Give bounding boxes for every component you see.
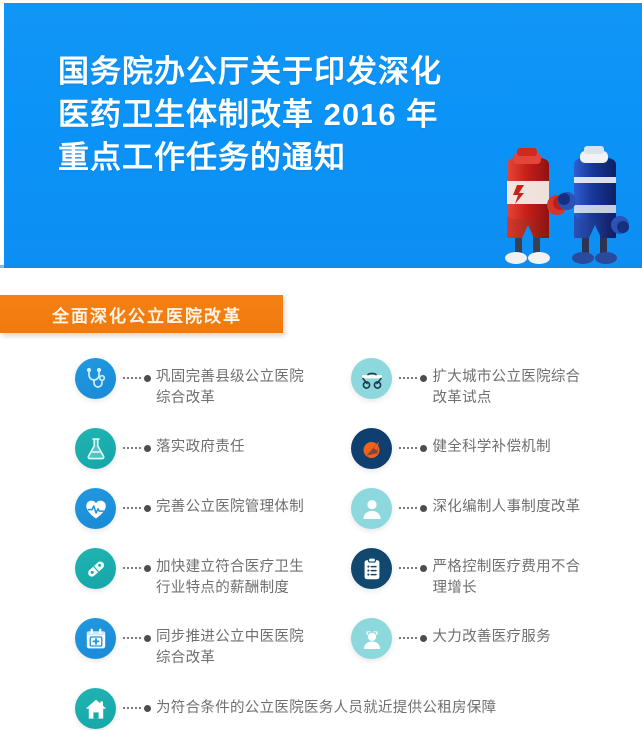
connector — [399, 548, 427, 589]
list-item-label: 扩大城市公立医院综合 改革试点 — [432, 358, 580, 409]
nurse-icon — [351, 618, 392, 659]
connector — [123, 548, 151, 589]
list-item-line: 落实政府责任 — [156, 437, 245, 458]
bullet-dot — [420, 375, 427, 382]
list-item-line: 加快建立符合医疗卫生 — [156, 557, 304, 578]
list-item[interactable]: 巩固完善县级公立医院 综合改革 — [0, 358, 336, 409]
dotted-line — [399, 567, 417, 571]
list-item[interactable]: 严格控制医疗费用不合 理增长 — [336, 548, 642, 599]
hospital-gurney-icon — [351, 358, 392, 399]
connector — [399, 618, 427, 659]
infographic-page: 国务院办公厅关于印发深化 医药卫生体制改革 2016 年 重点工作任务的通知 — [0, 0, 642, 730]
item-row: 落实政府责任 健全科学补偿机制 — [0, 428, 642, 469]
connector — [123, 428, 151, 469]
header-top-edge — [0, 0, 642, 3]
boxing-bottles-icon — [487, 143, 642, 268]
item-row: 为符合条件的公立医院医务人员就近提供公租房保障 — [0, 688, 642, 729]
list-item[interactable]: 同步推进公立中医医院 综合改革 — [0, 618, 336, 669]
row-spacer — [0, 669, 642, 688]
header-bottom-rule — [0, 265, 642, 268]
list-item-line: 巩固完善县级公立医院 — [156, 367, 304, 388]
row-spacer — [0, 469, 642, 488]
connector — [123, 688, 151, 729]
title-line-3: 重点工作任务的通知 — [58, 136, 498, 179]
bullet-dot — [144, 635, 151, 642]
list-item[interactable]: 落实政府责任 — [0, 428, 336, 469]
list-item-label: 严格控制医疗费用不合 理增长 — [432, 548, 580, 599]
list-item-line: 综合改革 — [156, 388, 304, 409]
header-left-edge — [0, 0, 4, 268]
item-row: 巩固完善县级公立医院 综合改革 — [0, 358, 642, 409]
calendar-plus-icon — [75, 618, 116, 659]
section-banner-label: 全面深化公立医院改革 — [52, 302, 242, 327]
dotted-line — [399, 377, 417, 381]
list-item[interactable]: 扩大城市公立医院综合 改革试点 — [336, 358, 642, 409]
bullet-dot — [420, 505, 427, 512]
list-item-line: 综合改革 — [156, 648, 304, 669]
list-item[interactable]: 大力改善医疗服务 — [336, 618, 642, 669]
list-item-line: 健全科学补偿机制 — [432, 437, 550, 458]
list-item-line: 扩大城市公立医院综合 — [432, 367, 580, 388]
row-spacer — [0, 599, 642, 618]
bullet-dot — [144, 375, 151, 382]
items-grid: 巩固完善县级公立医院 综合改革 — [0, 358, 642, 729]
title-line-1: 国务院办公厅关于印发深化 — [58, 50, 498, 93]
list-item-label: 同步推进公立中医医院 综合改革 — [156, 618, 304, 669]
item-row: 加快建立符合医疗卫生 行业特点的薪酬制度 — [0, 548, 642, 599]
connector — [399, 358, 427, 399]
row-spacer — [0, 409, 642, 428]
heart-pulse-icon — [75, 488, 116, 529]
dotted-line — [399, 507, 417, 511]
item-row: 同步推进公立中医医院 综合改革 — [0, 618, 642, 669]
bullet-dot — [420, 565, 427, 572]
connector — [399, 428, 427, 469]
compass-icon — [351, 428, 392, 469]
list-item-label: 大力改善医疗服务 — [432, 618, 550, 648]
bullet-dot — [144, 505, 151, 512]
list-item-label: 加快建立符合医疗卫生 行业特点的薪酬制度 — [156, 548, 304, 599]
dotted-line — [123, 567, 141, 571]
dotted-line — [123, 447, 141, 451]
list-item[interactable]: 加快建立符合医疗卫生 行业特点的薪酬制度 — [0, 548, 336, 599]
list-item[interactable]: 深化编制人事制度改革 — [336, 488, 642, 529]
list-item-line: 同步推进公立中医医院 — [156, 627, 304, 648]
dotted-line — [123, 507, 141, 511]
list-item[interactable]: 完善公立医院管理体制 — [0, 488, 336, 529]
bullet-dot — [420, 445, 427, 452]
list-item-label: 为符合条件的公立医院医务人员就近提供公租房保障 — [156, 698, 496, 719]
dotted-line — [399, 637, 417, 641]
list-item-line: 改革试点 — [432, 388, 580, 409]
connector — [123, 618, 151, 659]
stethoscope-icon — [75, 358, 116, 399]
bullet-dot — [144, 445, 151, 452]
list-item[interactable]: 健全科学补偿机制 — [336, 428, 642, 469]
mascot-illustration — [487, 143, 642, 268]
list-item-label: 落实政府责任 — [156, 428, 245, 458]
page-title: 国务院办公厅关于印发深化 医药卫生体制改革 2016 年 重点工作任务的通知 — [58, 50, 498, 179]
list-item-line: 完善公立医院管理体制 — [156, 497, 304, 518]
connector — [123, 358, 151, 399]
bullet-dot — [144, 705, 151, 712]
item-row: 完善公立医院管理体制 深化编制人事制度改革 — [0, 488, 642, 529]
header-banner: 国务院办公厅关于印发深化 医药卫生体制改革 2016 年 重点工作任务的通知 — [0, 0, 642, 268]
list-item-line: 行业特点的薪酬制度 — [156, 578, 304, 599]
list-item-line: 严格控制医疗费用不合 — [432, 557, 580, 578]
connector — [399, 488, 427, 529]
list-item-line: 深化编制人事制度改革 — [432, 497, 580, 518]
blue-mascot — [558, 146, 629, 264]
section-banner: 全面深化公立医院改革 — [0, 295, 283, 333]
capsule-pills-icon — [75, 548, 116, 589]
list-item-line: 理增长 — [432, 578, 580, 599]
red-mascot — [505, 148, 567, 264]
lab-flask-icon — [75, 428, 116, 469]
person-icon — [351, 488, 392, 529]
list-item-label: 健全科学补偿机制 — [432, 428, 550, 458]
row-spacer — [0, 529, 642, 548]
list-item-line: 大力改善医疗服务 — [432, 627, 550, 648]
title-line-2: 医药卫生体制改革 2016 年 — [58, 93, 498, 136]
dotted-line — [123, 637, 141, 641]
house-icon — [75, 688, 116, 729]
list-item[interactable]: 为符合条件的公立医院医务人员就近提供公租房保障 — [0, 688, 642, 729]
dotted-line — [123, 377, 141, 381]
list-item-label: 深化编制人事制度改革 — [432, 488, 580, 518]
list-item-label: 巩固完善县级公立医院 综合改革 — [156, 358, 304, 409]
connector — [123, 488, 151, 529]
list-item-line: 为符合条件的公立医院医务人员就近提供公租房保障 — [156, 698, 496, 719]
bullet-dot — [420, 635, 427, 642]
bullet-dot — [144, 565, 151, 572]
dotted-line — [399, 447, 417, 451]
list-item-label: 完善公立医院管理体制 — [156, 488, 304, 518]
clipboard-icon — [351, 548, 392, 589]
dotted-line — [123, 707, 141, 711]
